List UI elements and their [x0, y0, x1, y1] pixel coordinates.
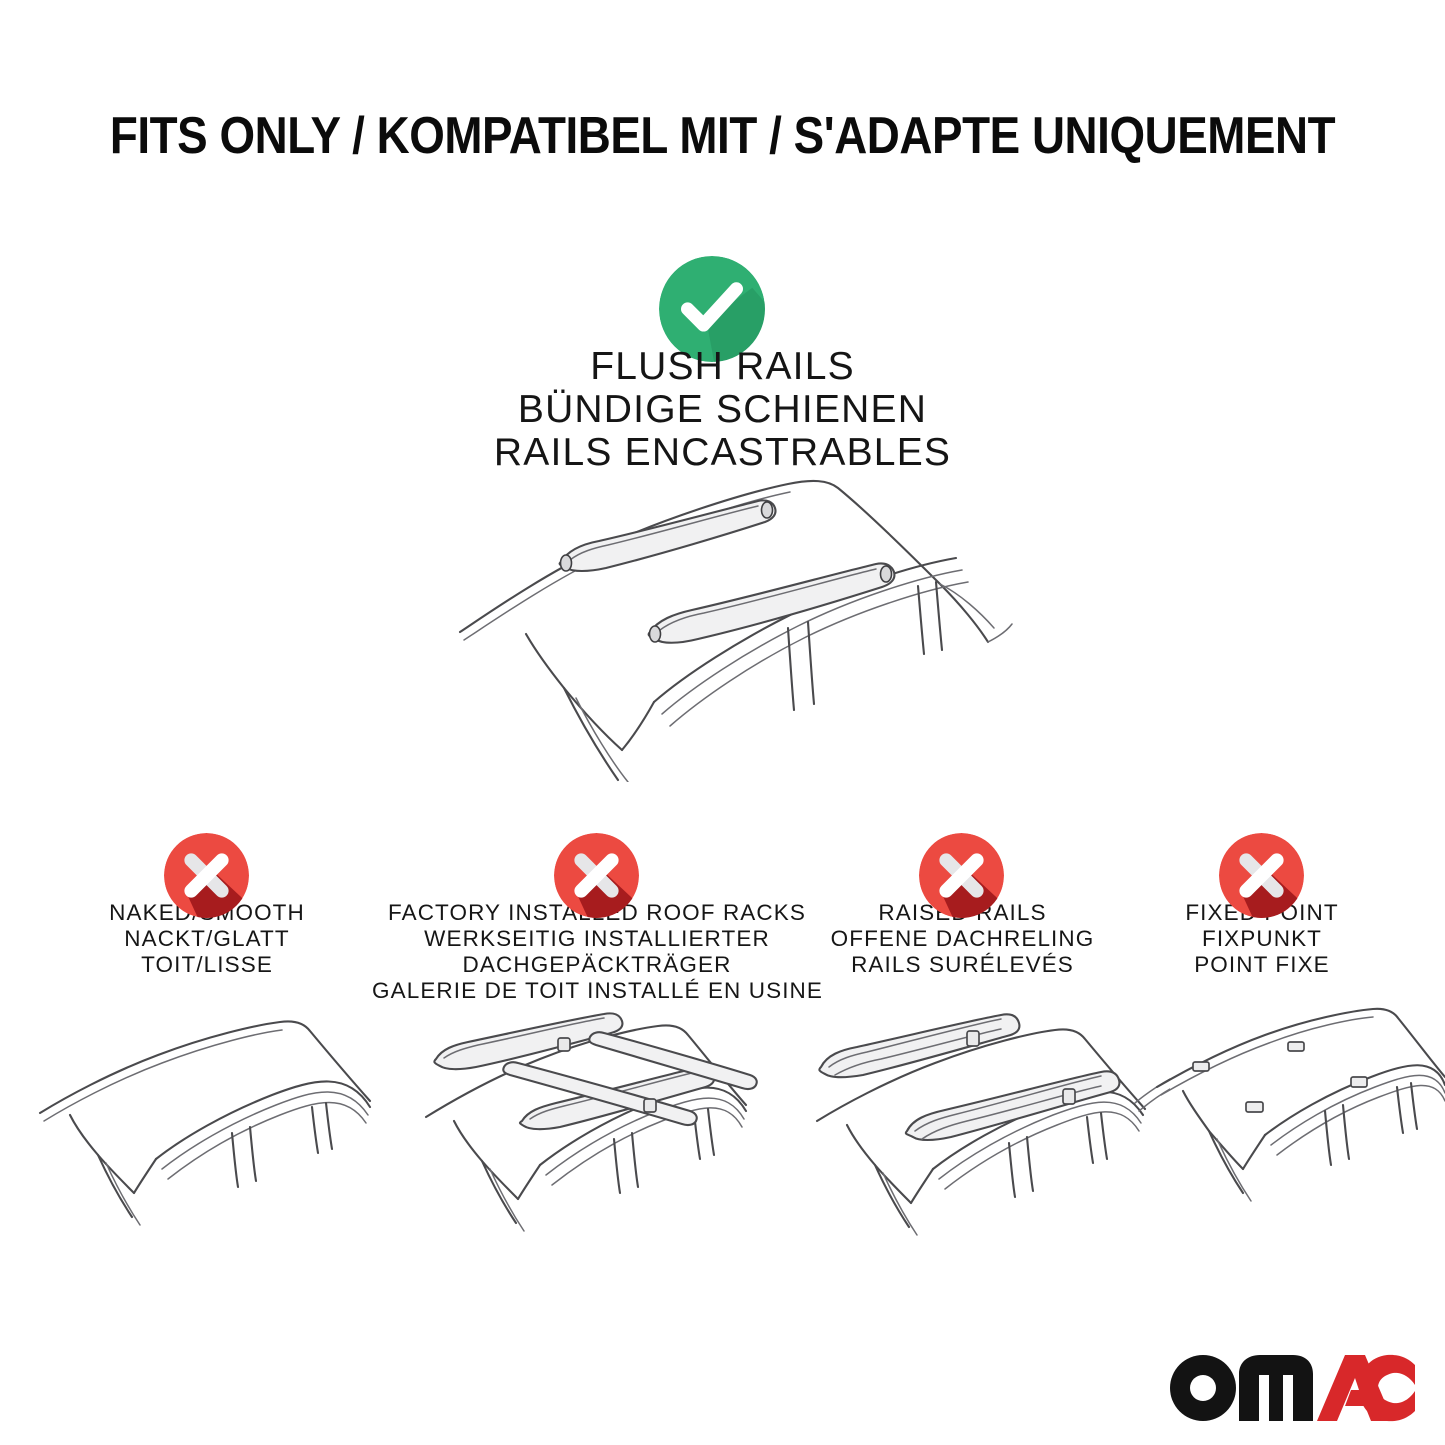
caption-line-fr: POINT FIXE	[1122, 952, 1402, 978]
car-roof-fixed-point-illustration	[1145, 1005, 1445, 1240]
caption-line-fr: RAILS SURÉLEVÉS	[810, 952, 1115, 978]
compatible-line-de: BÜNDIGE SCHIENEN	[0, 388, 1445, 431]
omac-logo	[1165, 1348, 1415, 1428]
x-circle-icon	[164, 833, 249, 918]
car-roof-naked-illustration	[18, 1005, 388, 1240]
caption-line-de: NACKT/GLATT	[47, 926, 367, 952]
car-roof-flush-rails-illustration	[440, 462, 1060, 782]
car-roof-factory-racks-illustration	[398, 1005, 773, 1240]
page-title: FITS ONLY / KOMPATIBEL MIT / S'ADAPTE UN…	[87, 108, 1359, 164]
compatible-line-en: FLUSH RAILS	[0, 345, 1445, 388]
caption-line-fr: TOIT/LISSE	[47, 952, 367, 978]
x-circle-icon	[919, 833, 1004, 918]
compatible-caption: FLUSH RAILS BÜNDIGE SCHIENEN RAILS ENCAS…	[0, 345, 1445, 474]
caption-line-de: OFFENE DACHRELING	[810, 926, 1115, 952]
caption-line-de-2: DACHGEPÄCKTRÄGER	[372, 952, 822, 978]
caption-line-fr: GALERIE DE TOIT INSTALLÉ EN USINE	[372, 978, 822, 1004]
caption-line-de: FIXPUNKT	[1122, 926, 1402, 952]
car-roof-raised-rails-illustration	[795, 1005, 1170, 1240]
x-circle-icon	[554, 833, 639, 918]
caption-line-de-1: WERKSEITIG INSTALLIERTER	[372, 926, 822, 952]
x-circle-icon	[1219, 833, 1304, 918]
fitment-compatibility-infographic: FITS ONLY / KOMPATIBEL MIT / S'ADAPTE UN…	[0, 0, 1445, 1445]
